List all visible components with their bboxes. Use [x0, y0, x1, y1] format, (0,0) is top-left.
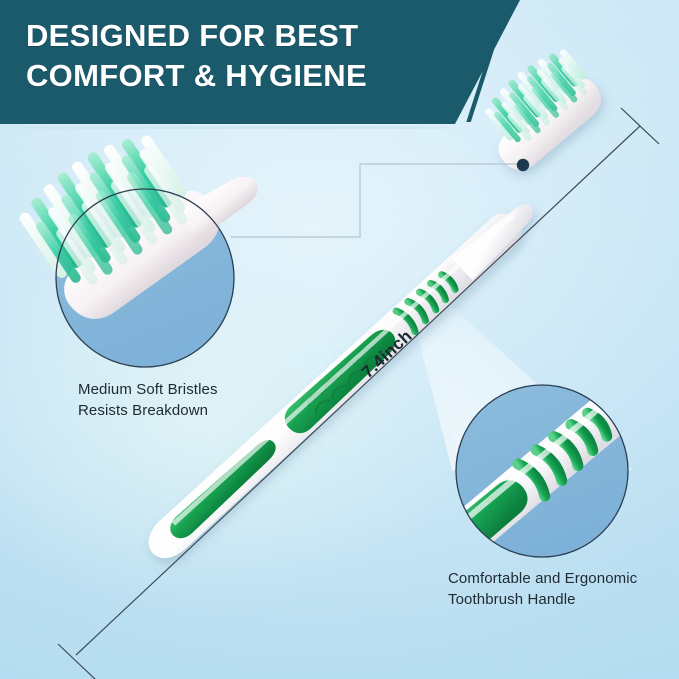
callout-label-handle: Comfortable and Ergonomic Toothbrush Han… — [448, 568, 637, 611]
infographic-canvas: DESIGNED FOR BEST COMFORT & HYGIENE Medi… — [0, 0, 679, 679]
banner-heading: DESIGNED FOR BEST COMFORT & HYGIENE — [26, 16, 367, 97]
banner-underline — [0, 126, 468, 129]
callout-label-bristles: Medium Soft Bristles Resists Breakdown — [78, 379, 218, 422]
header-banner: DESIGNED FOR BEST COMFORT & HYGIENE — [0, 0, 520, 124]
